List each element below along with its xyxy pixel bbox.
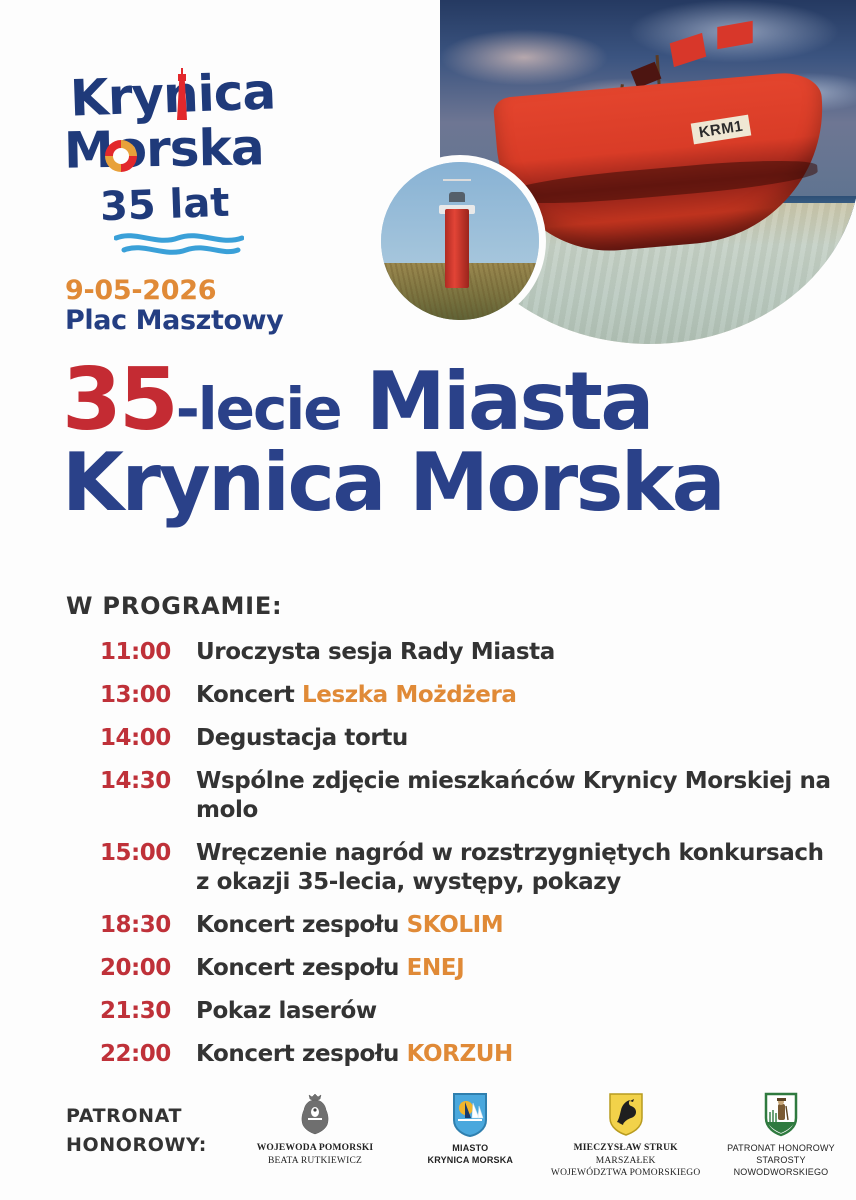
program-row: 14:00 Degustacja tortu (100, 724, 840, 753)
patronat-line-2: HONOROWY: (66, 1131, 207, 1160)
patron-logo-starosta: PATRONAT HONOROWY STAROSTY NOWODWORSKIEG… (706, 1086, 856, 1178)
program-heading: W PROGRAMIE: (66, 592, 282, 620)
headline-word (341, 355, 366, 448)
program-row: 11:00 Uroczysta sesja Rady Miasta (100, 638, 840, 667)
program-description: Uroczysta sesja Rady Miasta (196, 638, 840, 667)
program-text: Wspólne zdjęcie mieszkańców Krynicy Mors… (196, 768, 831, 823)
krynica-morska-logo: Krynica Morska 35 lat (62, 52, 312, 267)
program-list: 11:00 Uroczysta sesja Rady Miasta 13:00 … (100, 638, 840, 1083)
program-time: 22:00 (100, 1040, 196, 1069)
program-time: 11:00 (100, 638, 196, 667)
program-text: Degustacja tortu (196, 725, 408, 751)
program-time: 21:30 (100, 997, 196, 1026)
polish-eagle-crest-icon (240, 1086, 390, 1138)
program-time: 20:00 (100, 954, 196, 983)
patron-caption-rest: KRYNICA MORSKA (395, 1154, 545, 1166)
lighthouse-antenna-icon (443, 179, 471, 181)
program-row: 20:00 Koncert zespołu ENEJ (100, 954, 840, 983)
krynica-morska-crest-icon (395, 1086, 545, 1138)
headline-word-miasta: Miasta (366, 355, 652, 448)
date-place-block: 9-05-2026 Plac Masztowy (65, 276, 283, 337)
program-row: 21:30 Pokaz laserów (100, 997, 840, 1026)
patron-caption: PATRONAT HONOROWY STAROSTY NOWODWORSKIEG… (706, 1142, 856, 1178)
program-text: Koncert zespołu (196, 1041, 407, 1067)
page-title: 35-lecie Miasta Krynica Morska (62, 358, 842, 523)
program-text: Koncert zespołu (196, 955, 407, 981)
program-time: 13:00 (100, 681, 196, 710)
lighthouse-photo (374, 155, 546, 327)
program-description: Koncert zespołu KORZUH (196, 1040, 840, 1069)
program-row: 18:30 Koncert zespołu SKOLIM (100, 911, 840, 940)
footer: PATRONAT HONOROWY: (0, 1086, 856, 1200)
program-row: 14:30 Wspólne zdjęcie mieszkańców Krynic… (100, 767, 840, 825)
program-highlight: Leszka Możdżera (302, 682, 517, 708)
patronat-line-1: PATRONAT (66, 1102, 207, 1131)
program-text: Koncert (196, 682, 302, 708)
program-time: 15:00 (100, 839, 196, 868)
program-description: Koncert zespołu SKOLIM (196, 911, 840, 940)
lighthouse-icon (174, 68, 190, 120)
patron-caption-bold: PATRONAT HONOROWY (706, 1142, 856, 1154)
patron-caption-rest: BEATA RUTKIEWICZ (240, 1155, 390, 1168)
patron-logo-marszalek: MIECZYSŁAW STRUK MARSZAŁEK WOJEWÓDZTWA P… (551, 1086, 701, 1180)
program-highlight: ENEJ (407, 955, 465, 981)
patron-caption-extra: WOJEWÓDZTWA POMORSKIEGO (551, 1167, 701, 1180)
patron-logo-miasto: MIASTO KRYNICA MORSKA (395, 1086, 545, 1166)
patron-logos: WOJEWODA POMORSKI BEATA RUTKIEWICZ (240, 1086, 856, 1180)
program-row: 13:00 Koncert Leszka Możdżera (100, 681, 840, 710)
program-description: Wręczenie nagród w rozstrzygniętych konk… (196, 839, 840, 897)
headline-line-1: 35-lecie Miasta (62, 358, 842, 442)
program-text: Koncert zespołu (196, 912, 407, 938)
program-description: Pokaz laserów (196, 997, 840, 1026)
headline-city: Krynica Morska (62, 436, 723, 529)
program-text: Uroczysta sesja Rady Miasta (196, 639, 555, 665)
program-text: Pokaz laserów (196, 998, 377, 1024)
nowy-dwor-crest-icon (706, 1086, 856, 1138)
program-description: Koncert zespołu ENEJ (196, 954, 840, 983)
patron-caption: WOJEWODA POMORSKI BEATA RUTKIEWICZ (240, 1142, 390, 1167)
photo-area: KRM1 (418, 0, 856, 352)
lighthouse-lamp-icon (449, 192, 465, 202)
pomorskie-griffin-crest-icon (551, 1086, 701, 1138)
patron-caption-bold: MIASTO (395, 1142, 545, 1154)
patron-caption-bold: WOJEWODA POMORSKI (240, 1142, 390, 1155)
program-highlight: KORZUH (407, 1041, 513, 1067)
headline-number: 35 (62, 350, 176, 450)
program-description: Wspólne zdjęcie mieszkańców Krynicy Mors… (196, 767, 840, 825)
program-row: 22:00 Koncert zespołu KORZUH (100, 1040, 840, 1069)
patron-caption-rest: MARSZAŁEK (551, 1155, 701, 1168)
patronat-label: PATRONAT HONOROWY: (66, 1102, 207, 1161)
patron-logo-wojewoda: WOJEWODA POMORSKI BEATA RUTKIEWICZ (240, 1086, 390, 1167)
event-date: 9-05-2026 (65, 276, 283, 305)
poster: KRM1 Krynica Morska 35 lat 9- (0, 0, 856, 1200)
program-row: 15:00 Wręczenie nagród w rozstrzygniętyc… (100, 839, 840, 897)
program-time: 18:30 (100, 911, 196, 940)
patron-caption-extra: NOWODWORSKIEGO (706, 1166, 856, 1178)
program-description: Degustacja tortu (196, 724, 840, 753)
program-description: Koncert Leszka Możdżera (196, 681, 840, 710)
event-place: Plac Masztowy (65, 305, 283, 337)
program-highlight: SKOLIM (407, 912, 504, 938)
program-text: Wręczenie nagród w rozstrzygniętych konk… (196, 840, 824, 895)
program-time: 14:30 (100, 767, 196, 796)
headline-line-2: Krynica Morska (62, 444, 842, 522)
patron-caption-bold: MIECZYSŁAW STRUK (551, 1142, 701, 1155)
patron-caption-rest: STAROSTY (706, 1154, 856, 1166)
logo-line-morska: Morska (64, 118, 265, 179)
lifebuoy-icon (105, 140, 137, 172)
headline-suffix: -lecie (176, 375, 341, 443)
waves-icon (114, 230, 244, 260)
patron-caption: MIECZYSŁAW STRUK MARSZAŁEK WOJEWÓDZTWA P… (551, 1142, 701, 1180)
program-time: 14:00 (100, 724, 196, 753)
logo-line-35lat: 35 lat (99, 180, 230, 230)
lighthouse-tower-icon (445, 209, 469, 288)
patron-caption: MIASTO KRYNICA MORSKA (395, 1142, 545, 1166)
